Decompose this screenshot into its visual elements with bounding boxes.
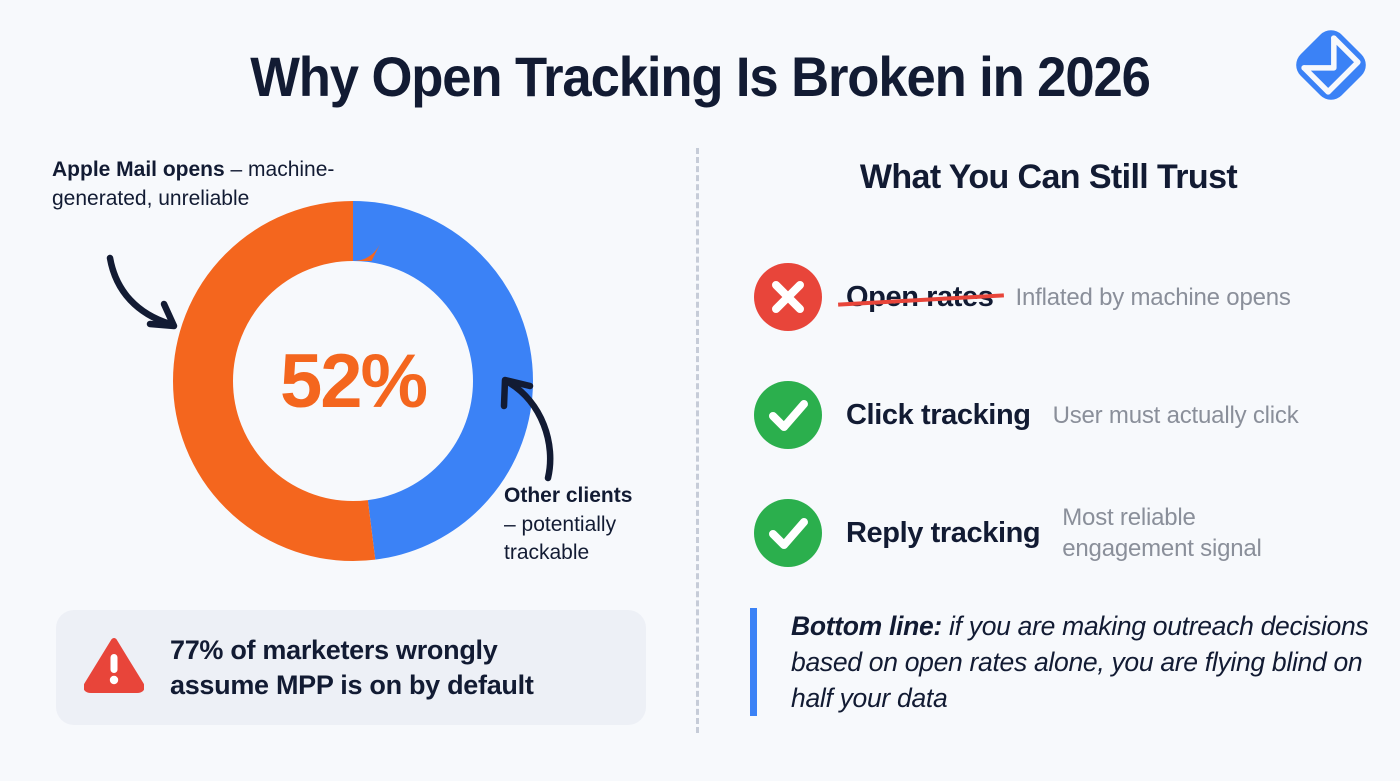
x-circle-icon: [752, 261, 824, 333]
donut-chart: 52%: [163, 186, 543, 576]
list-item: Click tracking User must actually click: [752, 356, 1392, 474]
check-circle-icon: [752, 497, 824, 569]
warning-triangle-icon: [84, 637, 144, 698]
callout-apple-mail-strong: Apple Mail opens: [52, 158, 231, 181]
bottom-line-text: Bottom line: if you are making outreach …: [791, 608, 1370, 716]
trust-item-label: Reply tracking: [846, 517, 1040, 550]
callout-other-clients-strong: Other clients: [504, 484, 632, 507]
callout-other-clients: Other clients– potentially trackable: [504, 482, 694, 568]
check-circle-icon: [752, 379, 824, 451]
trust-section-title: What You Can Still Trust: [697, 158, 1400, 197]
warning-text-line2: assume MPP is on by default: [170, 668, 534, 703]
trust-item-description: User must actually click: [1053, 400, 1299, 431]
page-title: Why Open Tracking Is Broken in 2026: [42, 44, 1358, 109]
column-divider: [696, 148, 699, 733]
warning-text-line1: 77% of marketers wrongly: [170, 633, 534, 668]
donut-center-value: 52%: [163, 186, 543, 576]
trust-item-description: Most reliable engagement signal: [1062, 502, 1312, 564]
bottom-line-callout: Bottom line: if you are making outreach …: [750, 608, 1370, 716]
list-item: Reply tracking Most reliable engagement …: [752, 474, 1392, 592]
warning-text: 77% of marketers wrongly assume MPP is o…: [170, 633, 534, 703]
trust-item-label: Open rates: [846, 281, 994, 314]
trust-item-description: Inflated by machine opens: [1016, 282, 1291, 313]
callout-other-clients-rest: – potentially trackable: [504, 513, 616, 565]
trust-item-label: Click tracking: [846, 399, 1031, 432]
warning-callout-box: 77% of marketers wrongly assume MPP is o…: [56, 610, 646, 725]
arrow-to-other-segment-icon: [498, 374, 594, 482]
bottom-line-lead: Bottom line:: [791, 611, 942, 641]
infographic-canvas: Why Open Tracking Is Broken in 2026 Appl…: [0, 0, 1400, 781]
list-item: Open rates Inflated by machine opens: [752, 238, 1392, 356]
envelope-tag-logo: [1288, 22, 1374, 108]
trust-list: Open rates Inflated by machine opens Cli…: [752, 238, 1392, 592]
